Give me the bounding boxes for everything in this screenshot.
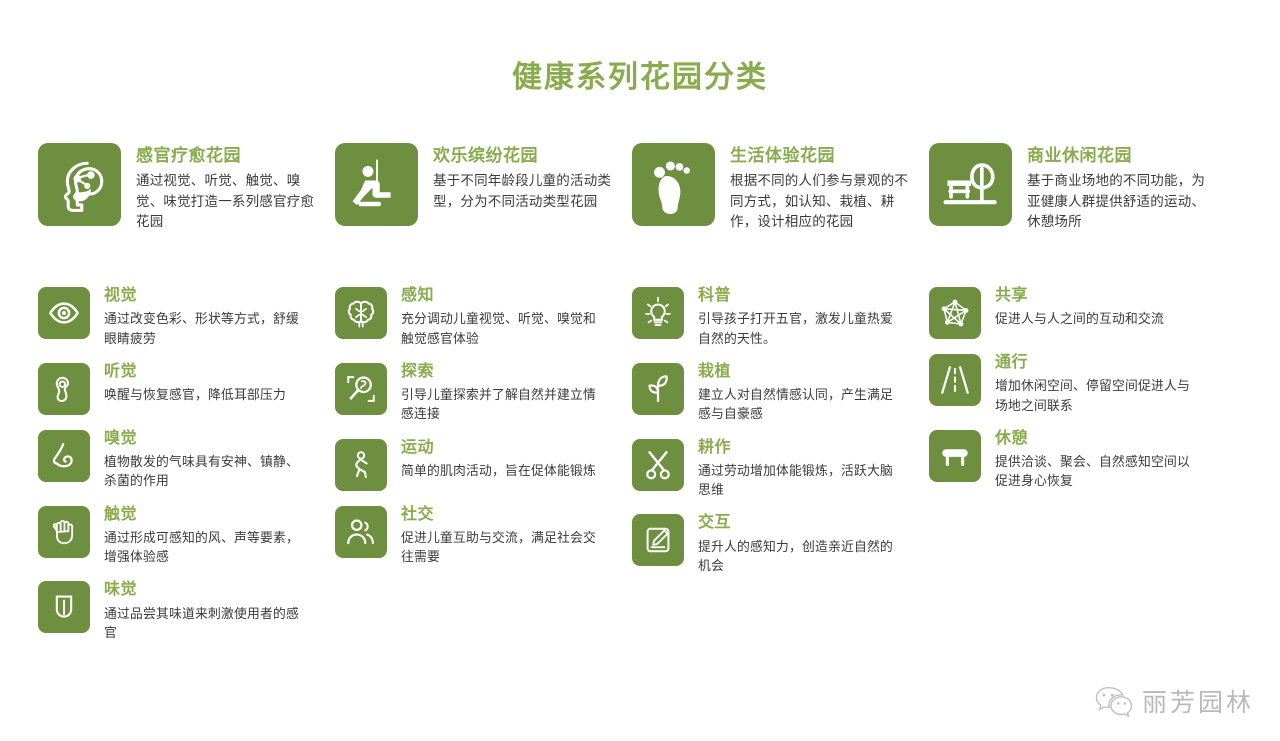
bench-tree-icon [942,156,1000,214]
icon-tile [632,143,715,226]
icon-tile [632,514,684,566]
list-item: 味觉 通过品尝其味道来刺激使用者的感官 [38,581,335,642]
list-item-text: 社交 促进儿童互助与交流，满足社会交往需要 [401,506,601,567]
list-item-title: 听觉 [104,363,304,381]
list-item: 社交 促进儿童互助与交流，满足社会交往需要 [335,506,632,567]
list-item: 嗅觉 植物散发的气味具有安神、镇静、杀菌的作用 [38,430,335,491]
icon-tile [929,287,981,339]
list-item-title: 探索 [401,363,601,381]
top-card: 欢乐缤纷花园 基于不同年龄段儿童的活动类型，分为不同活动类型花园 [335,143,632,232]
top-card-title: 感官疗愈花园 [136,145,316,166]
list-item: 听觉 唤醒与恢复感官，降低耳部压力 [38,363,335,415]
icon-tile [38,506,90,558]
top-card: 感官疗愈花园 通过视觉、听觉、触觉、嗅觉、味觉打造一系列感官疗愈花园 [38,143,335,232]
icon-tile [929,354,981,406]
top-card-title: 商业休闲花园 [1027,145,1207,166]
icon-tile [38,287,90,339]
top-card-text: 生活体验花园 根据不同的人们参与景观的不同方式，如认知、栽植、耕作，设计相应的花… [730,143,910,232]
list-item-desc: 建立人对自然情感认同，产生满足感与自豪感 [698,385,898,423]
list-item: 交互 提升人的感知力，创造亲近自然的机会 [632,514,929,575]
list-item-text: 运动 简单的肌肉活动，旨在促体能锻炼 [401,439,601,481]
list-item-text: 感知 充分调动儿童视觉、听觉、嗅觉和触觉感官体验 [401,287,601,348]
top-card-desc: 基于商业场地的不同功能，为亚健康人群提供舒适的运动、休憩场所 [1027,171,1207,232]
column-senses: 视觉 通过改变色彩、形状等方式，舒缓眼睛疲劳 听觉 唤醒与恢复感官，降低耳部压力 [38,287,335,657]
people-icon [344,515,378,549]
list-item-text: 耕作 通过劳动增加体能锻炼，活跃大脑思维 [698,439,898,500]
list-item-text: 嗅觉 植物散发的气味具有安神、镇静、杀菌的作用 [104,430,304,491]
list-item: 共享 促进人与人之间的互动和交流 [929,287,1226,339]
list-item-title: 嗅觉 [104,430,304,448]
list-item-desc: 植物散发的气味具有安神、镇静、杀菌的作用 [104,452,304,490]
icon-tile [632,439,684,491]
bench-icon [938,439,972,473]
list-item-text: 触觉 通过形成可感知的风、声等要素，增强体验感 [104,506,304,567]
brain-icon [344,296,378,330]
list-item-text: 共享 促进人与人之间的互动和交流 [995,287,1195,329]
list-item-text: 探索 引导儿童探索并了解自然并建立情感连接 [401,363,601,424]
list-item-text: 休憩 提供洽谈、聚会、自然感知空间以促进身心恢复 [995,430,1195,491]
list-item: 科普 引导孩子打开五官，激发儿童热爱自然的天性。 [632,287,929,348]
list-item-title: 共享 [995,287,1195,305]
icon-tile [38,143,121,226]
top-card-text: 欢乐缤纷花园 基于不同年龄段儿童的活动类型，分为不同活动类型花园 [433,143,613,212]
list-item-title: 运动 [401,439,601,457]
list-item-desc: 简单的肌肉活动，旨在促体能锻炼 [401,461,601,480]
list-item-text: 栽植 建立人对自然情感认同，产生满足感与自豪感 [698,363,898,424]
list-item: 休憩 提供洽谈、聚会、自然感知空间以促进身心恢复 [929,430,1226,491]
wechat-icon [1094,684,1134,718]
list-item-text: 味觉 通过品尝其味道来刺激使用者的感官 [104,581,304,642]
infographic-page: 健康系列花园分类 感官疗愈花园 通过视觉、听觉、触觉、 [0,0,1280,741]
network-icon [938,296,972,330]
icon-tile [632,287,684,339]
icon-tile [335,143,418,226]
list-item-text: 科普 引导孩子打开五官，激发儿童热爱自然的天性。 [698,287,898,348]
list-item-desc: 充分调动儿童视觉、听觉、嗅觉和触觉感官体验 [401,309,601,347]
icon-tile [38,430,90,482]
category-columns: 视觉 通过改变色彩、形状等方式，舒缓眼睛疲劳 听觉 唤醒与恢复感官，降低耳部压力 [38,287,1253,657]
list-item: 感知 充分调动儿童视觉、听觉、嗅觉和触觉感官体验 [335,287,632,348]
sprout-icon [641,372,675,406]
list-item-desc: 引导孩子打开五官，激发儿童热爱自然的天性。 [698,309,898,347]
list-item-desc: 促进人与人之间的互动和交流 [995,309,1195,328]
list-item-desc: 通过劳动增加体能锻炼，活跃大脑思维 [698,461,898,499]
list-item-desc: 引导儿童探索并了解自然并建立情感连接 [401,385,601,423]
column-children: 感知 充分调动儿童视觉、听觉、嗅觉和触觉感官体验 [335,287,632,657]
top-card-text: 商业休闲花园 基于商业场地的不同功能，为亚健康人群提供舒适的运动、休憩场所 [1027,143,1207,232]
tablet-pen-icon [642,524,674,556]
top-card-title: 欢乐缤纷花园 [433,145,613,166]
running-icon [345,449,377,481]
head-sensory-icon [51,156,109,214]
swing-play-icon [348,156,406,214]
list-item-desc: 通过改变色彩、形状等方式，舒缓眼睛疲劳 [104,309,304,347]
list-item-title: 触觉 [104,506,304,524]
list-item-title: 味觉 [104,581,304,599]
list-item-title: 耕作 [698,439,898,457]
list-item-title: 社交 [401,506,601,524]
list-item-desc: 唤醒与恢复感官，降低耳部压力 [104,385,304,404]
list-item-desc: 提供洽谈、聚会、自然感知空间以促进身心恢复 [995,452,1195,490]
list-item-title: 栽植 [698,363,898,381]
list-item-title: 科普 [698,287,898,305]
top-card-desc: 通过视觉、听觉、触觉、嗅觉、味觉打造一系列感官疗愈花园 [136,171,316,232]
column-experience: 科普 引导孩子打开五官，激发儿童热爱自然的天性。 栽植 [632,287,929,657]
list-item: 触觉 通过形成可感知的风、声等要素，增强体验感 [38,506,335,567]
list-item-title: 视觉 [104,287,304,305]
hand-icon [48,516,80,548]
top-card-desc: 基于不同年龄段儿童的活动类型，分为不同活动类型花园 [433,171,613,212]
shears-icon [641,448,675,482]
list-item: 视觉 通过改变色彩、形状等方式，舒缓眼睛疲劳 [38,287,335,348]
icon-tile [632,363,684,415]
lightbulb-icon [641,296,675,330]
watermark-text: 丽芳园林 [1142,683,1254,719]
icon-tile [335,363,387,415]
list-item: 栽植 建立人对自然情感认同，产生满足感与自豪感 [632,363,929,424]
top-card: 生活体验花园 根据不同的人们参与景观的不同方式，如认知、栽植、耕作，设计相应的花… [632,143,929,232]
list-item-text: 通行 增加休闲空间、停留空间促进人与场地之间联系 [995,354,1195,415]
list-item-desc: 增加休闲空间、停留空间促进人与场地之间联系 [995,376,1195,414]
top-card-title: 生活体验花园 [730,145,910,166]
list-item: 探索 引导儿童探索并了解自然并建立情感连接 [335,363,632,424]
road-icon [938,363,972,397]
icon-tile [335,287,387,339]
ear-icon [48,373,80,405]
nose-icon [47,439,81,473]
list-item-desc: 通过形成可感知的风、声等要素，增强体验感 [104,528,304,566]
list-item-title: 交互 [698,514,898,532]
top-card-text: 感官疗愈花园 通过视觉、听觉、触觉、嗅觉、味觉打造一系列感官疗愈花园 [136,143,316,232]
icon-tile [38,363,90,415]
icon-tile [38,581,90,633]
magnifier-icon [344,372,378,406]
list-item-desc: 促进儿童互助与交流，满足社会交往需要 [401,528,601,566]
list-item-text: 视觉 通过改变色彩、形状等方式，舒缓眼睛疲劳 [104,287,304,348]
watermark: 丽芳园林 [1094,683,1254,719]
list-item-title: 通行 [995,354,1195,372]
list-item-desc: 提升人的感知力，创造亲近自然的机会 [698,537,898,575]
icon-tile [335,506,387,558]
top-card-row: 感官疗愈花园 通过视觉、听觉、触觉、嗅觉、味觉打造一系列感官疗愈花园 欢乐缤纷花… [38,143,1253,232]
eye-icon [47,296,81,330]
icon-tile [929,143,1012,226]
list-item-text: 交互 提升人的感知力，创造亲近自然的机会 [698,514,898,575]
tongue-icon [48,591,80,623]
icon-tile [929,430,981,482]
list-item-text: 听觉 唤醒与恢复感官，降低耳部压力 [104,363,304,405]
column-commercial: 共享 促进人与人之间的互动和交流 通行 增加休闲空间、停留空间促进人与场地之间联… [929,287,1226,657]
top-card: 商业休闲花园 基于商业场地的不同功能，为亚健康人群提供舒适的运动、休憩场所 [929,143,1226,232]
list-item: 通行 增加休闲空间、停留空间促进人与场地之间联系 [929,354,1226,415]
top-card-desc: 根据不同的人们参与景观的不同方式，如认知、栽植、耕作，设计相应的花园 [730,171,910,232]
page-title: 健康系列花园分类 [0,52,1280,96]
list-item-title: 休憩 [995,430,1195,448]
icon-tile [335,439,387,491]
list-item: 运动 简单的肌肉活动，旨在促体能锻炼 [335,439,632,491]
list-item-title: 感知 [401,287,601,305]
list-item: 耕作 通过劳动增加体能锻炼，活跃大脑思维 [632,439,929,500]
footprint-icon [645,156,703,214]
list-item-desc: 通过品尝其味道来刺激使用者的感官 [104,604,304,642]
